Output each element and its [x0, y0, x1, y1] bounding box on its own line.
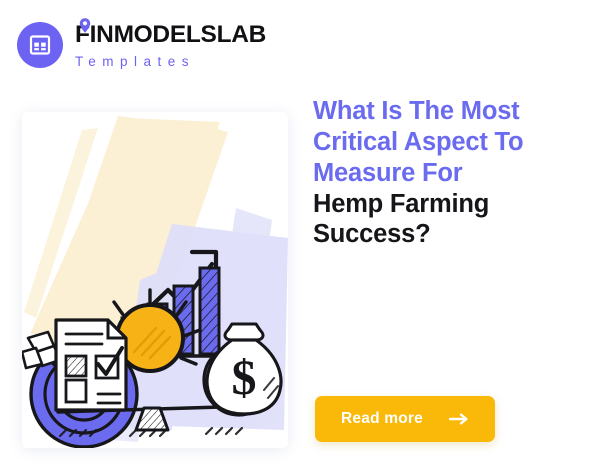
business-analytics-illustration: $ — [22, 112, 288, 448]
illustration-card: $ — [22, 112, 288, 448]
svg-text:$: $ — [232, 349, 257, 405]
arrow-right-icon — [449, 413, 469, 425]
grid-squares-icon — [17, 22, 63, 68]
brand-logo[interactable]: FINMODELSLAB Templates — [17, 22, 266, 68]
read-more-button[interactable]: Read more — [315, 396, 495, 442]
headline-primary: What Is The Most Critical Aspect To Meas… — [313, 96, 581, 189]
headline-secondary: Hemp Farming Success? — [313, 189, 581, 251]
brand-subtitle: Templates — [75, 55, 266, 69]
brand-title: FINMODELSLAB — [75, 23, 266, 48]
headline-block: What Is The Most Critical Aspect To Meas… — [313, 96, 581, 250]
read-more-label: Read more — [341, 410, 423, 428]
document-with-checklist — [56, 320, 126, 410]
brand-wordmark: FINMODELSLAB Templates — [75, 22, 266, 68]
